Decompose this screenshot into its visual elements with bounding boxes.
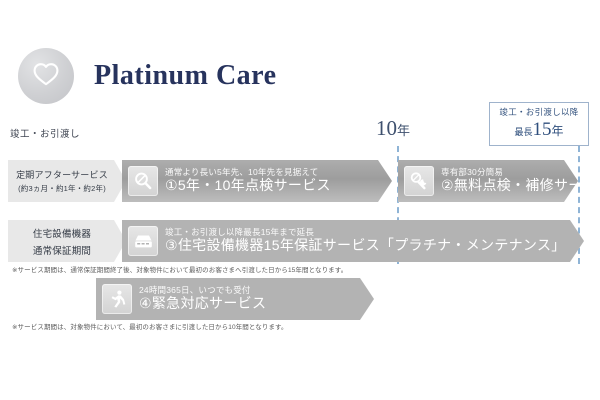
timeline-mark-15y-value: 最長15年 — [492, 119, 586, 141]
row-1-tag-line2: (約3ヵ月・約1年・約2年) — [18, 183, 106, 194]
timeline-mark-10y-unit: 年 — [397, 123, 410, 138]
row-1-segment-1-text: 通常より長い5年先、10年先を見据えて ①5年・10年点検サービス — [165, 168, 331, 194]
row-2-note: ※サービス期間は、通常保証期間終了後、対象物件において最初のお客さまへ引渡した日… — [12, 264, 347, 274]
row-3-segment-1: 24時間365日、いつでも受付 ④緊急対応サービス — [96, 278, 374, 320]
timeline-mark-15y-caption: 竣工・お引渡し以降 — [492, 106, 586, 118]
row-1-segment-1-sub: 通常より長い5年先、10年先を見据えて — [165, 168, 331, 178]
row-3-segment-1-sub: 24時間365日、いつでも受付 — [139, 286, 266, 296]
timeline-mark-10y-number: 10 — [376, 116, 397, 140]
row-1-segment-2: 専有部30分簡易 ②無料点検・補修サービス — [398, 160, 578, 202]
row-2-segment-1-text: 竣工・お引渡し以降最長15年まで延長 ③住宅設備機器15年保証サービス「プラチナ… — [165, 228, 566, 254]
row-1-tag-line1: 定期アフターサービス — [16, 168, 108, 181]
timeline-mark-10y: 10年 — [376, 116, 410, 141]
timeline-mark-15y-unit: 年 — [552, 124, 564, 138]
appliance-icon — [128, 226, 158, 256]
row-1-segment-1-main: ①5年・10年点検サービス — [165, 178, 331, 194]
row-3-segment-1-main: ④緊急対応サービス — [139, 296, 266, 312]
service-row-3: 24時間365日、いつでも受付 ④緊急対応サービス — [96, 278, 374, 320]
row-1-segment-2-main: ②無料点検・補修サービス — [441, 178, 600, 194]
timeline-start-label: 竣工・お引渡し — [10, 126, 80, 140]
row-2-tag-line2: 通常保証期間 — [33, 243, 91, 257]
platinum-care-diagram: Platinum Care 竣工・お引渡し 10年 竣工・お引渡し以降 最長15… — [0, 0, 600, 400]
brand-badge — [18, 48, 74, 104]
row-1-segment-1: 通常より長い5年先、10年先を見据えて ①5年・10年点検サービス — [122, 160, 392, 202]
row-2-segment-1-sub: 竣工・お引渡し以降最長15年まで延長 — [165, 228, 566, 238]
running-person-icon — [102, 284, 132, 314]
page-title: Platinum Care — [94, 60, 277, 92]
magnifier-icon — [128, 166, 158, 196]
heart-icon — [32, 61, 60, 92]
service-row-1: 定期アフターサービス (約3ヵ月・約1年・約2年) 通常より長い5年先、10年先… — [8, 160, 578, 202]
row-2-tag: 住宅設備機器 通常保証期間 — [8, 220, 126, 262]
row-1-segment-2-text: 専有部30分簡易 ②無料点検・補修サービス — [441, 168, 600, 194]
row-1-segment-2-sub: 専有部30分簡易 — [441, 168, 600, 178]
row-2-tag-line1: 住宅設備機器 — [33, 226, 91, 240]
service-row-2: 住宅設備機器 通常保証期間 竣工・お引渡し以降最長15年まで延長 ③住宅設備機器… — [8, 220, 584, 262]
row-3-segment-1-text: 24時間365日、いつでも受付 ④緊急対応サービス — [139, 286, 266, 312]
row-2-segment-1: 竣工・お引渡し以降最長15年まで延長 ③住宅設備機器15年保証サービス「プラチナ… — [122, 220, 584, 262]
row-1-tag: 定期アフターサービス (約3ヵ月・約1年・約2年) — [8, 160, 126, 202]
timeline-mark-15y-prefix: 最長 — [514, 127, 532, 137]
brand-header: Platinum Care — [18, 48, 277, 104]
row-2-segment-1-main: ③住宅設備機器15年保証サービス「プラチナ・メンテナンス」 — [165, 238, 566, 254]
magnifier-wrench-icon — [404, 166, 434, 196]
row-3-note: ※サービス期間は、対象物件において、最初のお客さまに引渡した日から10年間となり… — [12, 321, 288, 331]
timeline-mark-15y-number: 15 — [533, 119, 552, 140]
timeline-mark-15y-box: 竣工・お引渡し以降 最長15年 — [489, 102, 589, 146]
